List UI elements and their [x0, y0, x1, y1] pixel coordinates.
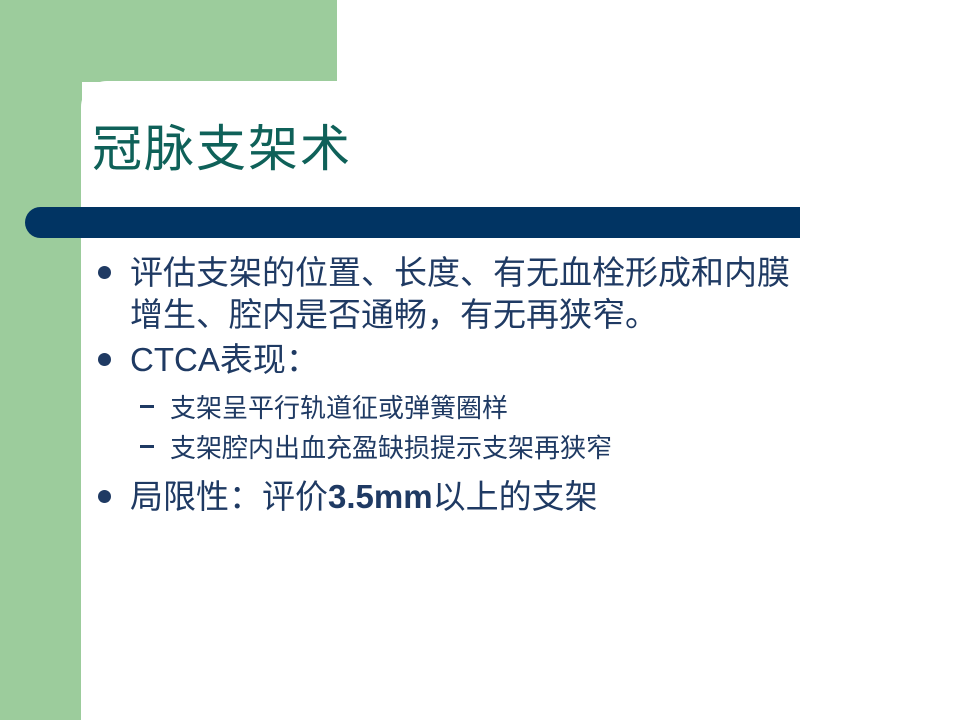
- page-title: 冠脉支架术: [92, 118, 352, 180]
- list-item: 支架腔内出血充盈缺损提示支架再狭窄: [140, 430, 938, 468]
- list-item: CTCA表现：: [98, 339, 938, 381]
- slide-canvas: 冠脉支架术 评估支架的位置、长度、有无血栓形成和内膜 增生、腔内是否通畅，有无再…: [0, 0, 960, 720]
- list-item-prefix: 局限性：评价: [130, 477, 328, 516]
- list-item-label: 支架腔内出血充盈缺损提示支架再狭窄: [170, 430, 938, 468]
- bullet-dot-icon: [98, 339, 130, 366]
- green-left-column: [0, 0, 82, 720]
- bullet-dot-icon: [98, 476, 130, 503]
- list-item: 支架呈平行轨道征或弹簧圈样: [140, 390, 938, 428]
- list-item-latin: CTCA: [130, 341, 220, 378]
- body-content: 评估支架的位置、长度、有无血栓形成和内膜 增生、腔内是否通畅，有无再狭窄。 CT…: [98, 252, 938, 521]
- list-item-suffix: 以上的支架: [433, 477, 598, 516]
- bullet-dash-icon: [140, 430, 170, 448]
- list-item: 评估支架的位置、长度、有无血栓形成和内膜 增生、腔内是否通畅，有无再狭窄。: [98, 252, 938, 336]
- list-item-label: 评估支架的位置、长度、有无血栓形成和内膜 增生、腔内是否通畅，有无再狭窄。: [130, 252, 938, 336]
- blue-title-divider-bar: [25, 207, 800, 238]
- list-item-measurement: 3.5mm: [328, 478, 433, 515]
- bullet-dot-icon: [98, 252, 130, 279]
- list-item-cjk: 表现：: [220, 340, 319, 379]
- list-item-label: 支架呈平行轨道征或弹簧圈样: [170, 390, 938, 428]
- list-item-line: 增生、腔内是否通畅，有无再狭窄。: [130, 295, 658, 334]
- bullet-dash-icon: [140, 390, 170, 408]
- list-item-label: 局限性：评价3.5mm以上的支架: [130, 476, 938, 518]
- list-item: 局限性：评价3.5mm以上的支架: [98, 476, 938, 518]
- list-item-line: 评估支架的位置、长度、有无血栓形成和内膜: [130, 253, 790, 292]
- list-item-label: CTCA表现：: [130, 339, 938, 381]
